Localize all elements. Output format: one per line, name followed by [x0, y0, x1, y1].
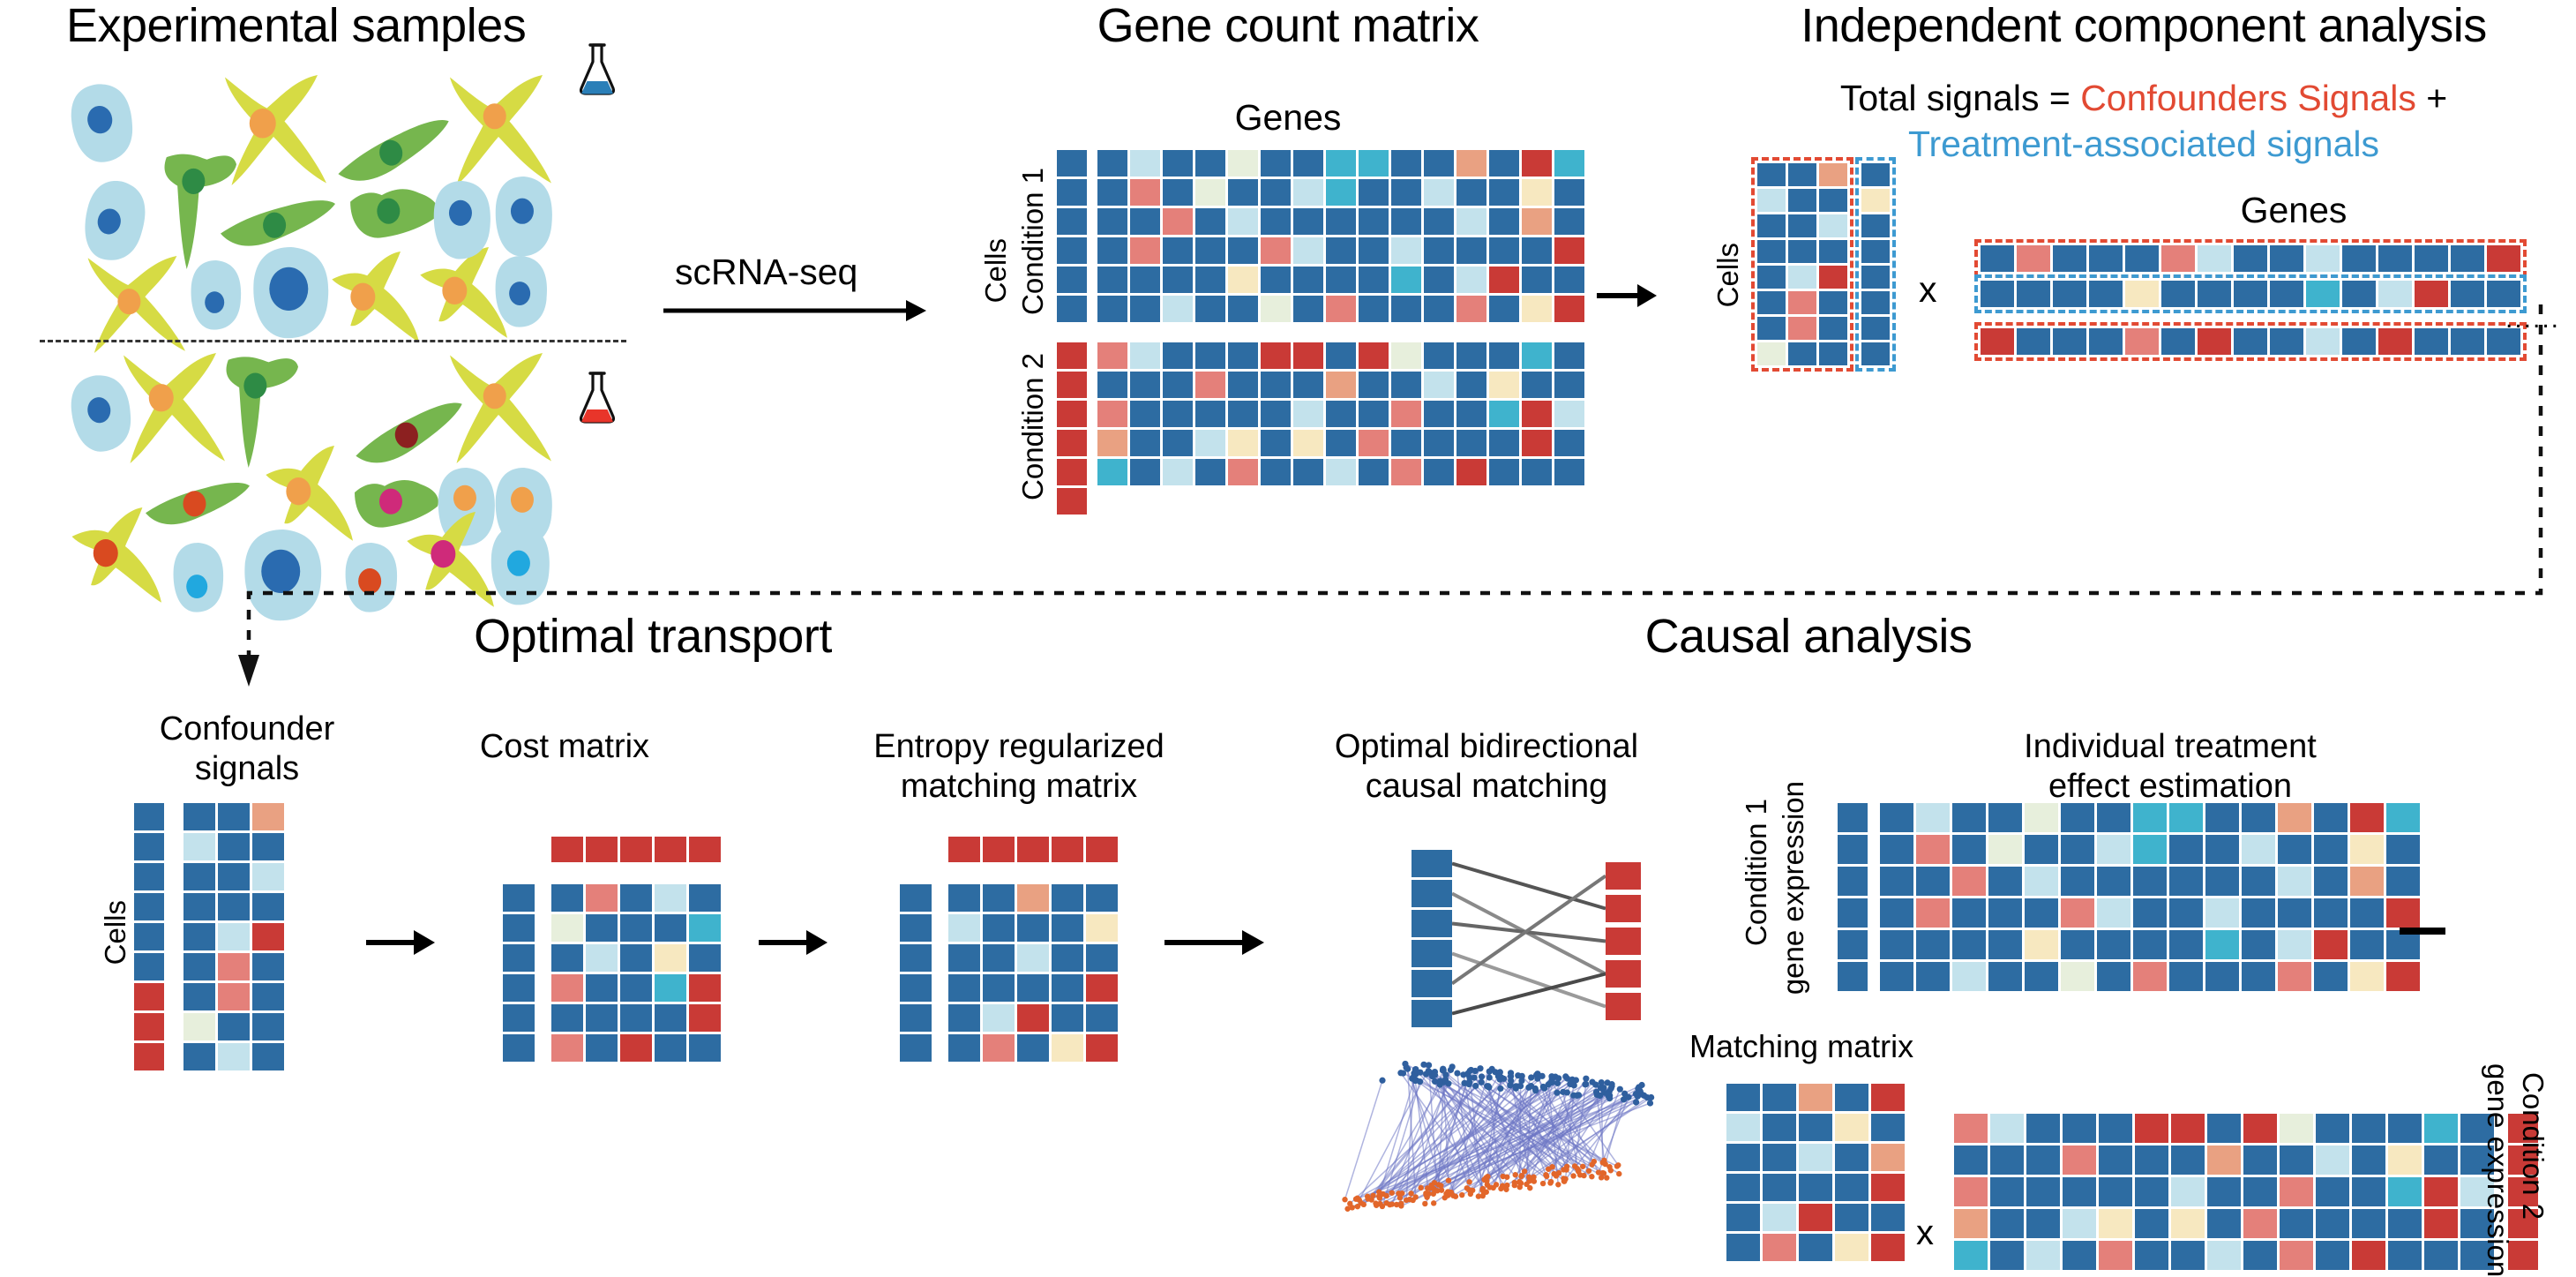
- heatmap-cell: [1293, 267, 1323, 293]
- heatmap-cell: [218, 1043, 250, 1070]
- heatmap-cell: [1293, 342, 1323, 369]
- heatmap-cell: [1293, 150, 1323, 177]
- heatmap-cell: [1097, 150, 1127, 177]
- heatmap-cell: [1554, 179, 1584, 206]
- embedding-point-condition1: [1449, 1063, 1456, 1070]
- heatmap-cell: [2097, 867, 2130, 896]
- heatmap-cell: [2350, 867, 2384, 896]
- heatmap-cell: [2063, 1209, 2096, 1238]
- embedding-scatter-svg: [1332, 1037, 1703, 1244]
- heatmap-cell: [2135, 1241, 2168, 1270]
- ite-multiply-symbol: x: [1916, 1213, 1934, 1253]
- heatmap-cell: [252, 983, 284, 1010]
- heatmap-cell: [1228, 179, 1258, 206]
- cell-body: [225, 75, 326, 185]
- heatmap-cell: [252, 803, 284, 830]
- heatmap-cell: [2097, 962, 2130, 991]
- heatmap-cell: [1017, 974, 1049, 1002]
- heatmap-cell: [2025, 962, 2058, 991]
- matching-right-node: [1606, 928, 1641, 955]
- heatmap-cell: [2234, 328, 2267, 355]
- heatmap-cell: [2487, 281, 2520, 307]
- heatmap-cell: [2099, 1209, 2132, 1238]
- cell-nucleus: [453, 485, 476, 511]
- heatmap-cell: [1228, 401, 1258, 427]
- heatmap-cell: [2089, 245, 2123, 272]
- ica-treatment-block: [1861, 163, 1890, 365]
- heatmap-cell: [2342, 281, 2376, 307]
- embedding-point-condition1: [1555, 1075, 1561, 1081]
- heatmap-cell: [1838, 867, 1868, 896]
- heatmap-cell: [1052, 1004, 1083, 1032]
- heatmap-cell: [2352, 1114, 2385, 1143]
- matching-right-node: [1606, 895, 1641, 922]
- cell-nucleus: [377, 199, 400, 224]
- heatmap-cell: [134, 953, 164, 980]
- heatmap-cell: [1954, 1146, 1988, 1175]
- obcm-label-line2: causal matching: [1284, 768, 1689, 806]
- heatmap-cell: [1130, 208, 1160, 235]
- embedding-point-condition1: [1606, 1095, 1613, 1101]
- cell-glyph: [491, 525, 550, 605]
- heatmap-cell: [183, 953, 215, 980]
- heatmap-cell: [1326, 208, 1356, 235]
- embedding-point-condition2: [1544, 1174, 1549, 1179]
- heatmap-cell: [1757, 266, 1786, 289]
- heatmap-cell: [1988, 835, 2022, 864]
- heatmap-cell: [1819, 291, 1847, 314]
- cell-nucleus: [431, 540, 455, 567]
- cost-matrix-header-row: [551, 837, 721, 862]
- heatmap-cell: [1880, 803, 1913, 832]
- heatmap-cell: [2270, 328, 2303, 355]
- embedding-point-condition2: [1591, 1159, 1597, 1164]
- cost-matrix-label: Cost matrix: [423, 728, 706, 766]
- heatmap-cell: [1130, 342, 1160, 369]
- cell-glyph: [244, 530, 321, 620]
- heatmap-cell: [689, 837, 721, 862]
- heatmap-cell: [2306, 245, 2340, 272]
- heatmap-cell: [1424, 179, 1454, 206]
- heatmap-cell: [2242, 898, 2275, 928]
- heatmap-cell: [1954, 1177, 1988, 1206]
- heatmap-cell: [1880, 962, 1913, 991]
- embedding-point-condition2: [1408, 1191, 1413, 1196]
- cell-nucleus: [286, 477, 311, 505]
- cell-nucleus: [183, 491, 206, 516]
- heatmap-cell: [2171, 1209, 2205, 1238]
- heatmap-cell: [1097, 459, 1127, 485]
- cell-glyph: [350, 189, 438, 237]
- embedding-point-condition1: [1379, 1078, 1385, 1084]
- condition2-row-label: Condition 2: [1016, 353, 1050, 500]
- confounder-signals-heatmap: [183, 803, 284, 1070]
- condition1-row-label: Condition 1: [1016, 168, 1050, 315]
- heatmap-cell: [1799, 1114, 1832, 1141]
- embedding-point-condition2: [1518, 1181, 1524, 1186]
- heatmap-cell: [1228, 430, 1258, 456]
- heatmap-cell: [1456, 296, 1486, 322]
- embedding-point-condition1: [1497, 1069, 1503, 1075]
- heatmap-cell: [1261, 208, 1291, 235]
- heatmap-cell: [2314, 803, 2348, 832]
- heatmap-cell: [1057, 430, 1087, 456]
- embedding-point-condition2: [1589, 1174, 1594, 1179]
- heatmap-cell: [2026, 1241, 2060, 1270]
- heatmap-cell: [1757, 342, 1786, 365]
- heatmap-cell: [1763, 1174, 1796, 1201]
- heatmap-cell: [1726, 1204, 1760, 1231]
- heatmap-cell: [1554, 401, 1584, 427]
- heatmap-cell: [134, 1043, 164, 1070]
- heatmap-cell: [1981, 245, 2014, 272]
- heatmap-cell: [252, 1043, 284, 1070]
- heatmap-cell: [1819, 214, 1847, 237]
- equation-total-label: Total signals =: [1840, 78, 2080, 118]
- heatmap-cell: [1489, 267, 1519, 293]
- matching-matrix-heatmap: [1726, 1084, 1905, 1261]
- heatmap-cell: [2025, 803, 2058, 832]
- heatmap-cell: [2198, 328, 2231, 355]
- cell-nucleus: [350, 283, 375, 311]
- matching-edge: [1452, 924, 1606, 942]
- heatmap-cell: [1359, 459, 1389, 485]
- embedding-point-condition2: [1483, 1175, 1488, 1180]
- embedding-point-condition1: [1517, 1083, 1524, 1089]
- heatmap-cell: [1880, 867, 1913, 896]
- heatmap-cell: [1163, 296, 1193, 322]
- cell-body: [124, 353, 225, 463]
- cell-nucleus: [509, 282, 530, 305]
- heatmap-cell: [1097, 342, 1127, 369]
- embedding-point-condition2: [1601, 1158, 1606, 1163]
- heatmap-cell: [1163, 372, 1193, 398]
- heatmap-cell: [2061, 898, 2094, 928]
- heatmap-cell: [1057, 372, 1087, 398]
- heatmap-cell: [1130, 459, 1160, 485]
- heatmap-cell: [2133, 835, 2167, 864]
- heatmap-cell: [1763, 1234, 1796, 1261]
- cell-glyph: [496, 177, 552, 256]
- heatmap-cell: [1424, 296, 1454, 322]
- heatmap-cell: [1097, 237, 1127, 264]
- heatmap-cell: [655, 1034, 686, 1062]
- heatmap-cell: [1163, 459, 1193, 485]
- heatmap-cell: [1489, 208, 1519, 235]
- heatmap-cell: [1799, 1084, 1832, 1111]
- heatmap-cell: [1163, 430, 1193, 456]
- matching-left-node: [1412, 880, 1452, 907]
- ica-genes-row-treatment: [1981, 281, 2520, 307]
- heatmap-cell: [1489, 459, 1519, 485]
- heatmap-cell: [183, 923, 215, 950]
- heatmap-cell: [1489, 150, 1519, 177]
- cell-nucleus: [186, 575, 207, 598]
- heatmap-cell: [2352, 1146, 2385, 1175]
- heatmap-cell: [655, 1004, 686, 1032]
- heatmap-cell: [1819, 163, 1847, 186]
- heatmap-cell: [1359, 401, 1389, 427]
- cell-nucleus: [182, 169, 205, 194]
- heatmap-cell: [2053, 245, 2086, 272]
- heatmap-cell: [2198, 245, 2231, 272]
- heatmap-cell: [1763, 1204, 1796, 1231]
- cond2-gene-expr-label-line2: gene expression: [2481, 1063, 2514, 1277]
- heatmap-cell: [2415, 281, 2448, 307]
- confounder-signals-label-line1: Confounder: [115, 710, 379, 748]
- heatmap-cell: [2316, 1114, 2349, 1143]
- heatmap-cell: [1391, 237, 1421, 264]
- heatmap-cell: [2352, 1241, 2385, 1270]
- cell-nucleus: [94, 539, 118, 567]
- ica-confounder-heatmap: [1757, 163, 1847, 365]
- embedding-point-condition1: [1508, 1073, 1514, 1079]
- heatmap-cell: [218, 893, 250, 920]
- embedding-point-condition2: [1380, 1191, 1385, 1197]
- embedding-point-condition2: [1453, 1194, 1458, 1199]
- embedding-point-condition2: [1431, 1200, 1436, 1206]
- heatmap-cell: [1871, 1204, 1905, 1231]
- heatmap-cell: [1489, 342, 1519, 369]
- embedding-point-condition1: [1471, 1075, 1478, 1081]
- cell-nucleus: [250, 109, 276, 139]
- heatmap-cell: [1522, 150, 1552, 177]
- cell-nucleus: [269, 267, 308, 311]
- heatmap-cell: [2242, 803, 2275, 832]
- heatmap-cell: [1916, 835, 1950, 864]
- heatmap-cell: [2316, 1146, 2349, 1175]
- heatmap-cell: [2053, 281, 2086, 307]
- heatmap-cell: [1799, 1204, 1832, 1231]
- embedding-point-condition2: [1449, 1190, 1454, 1195]
- heatmap-cell: [1097, 296, 1127, 322]
- heatmap-cell: [1163, 401, 1193, 427]
- embedding-point-condition2: [1524, 1182, 1529, 1187]
- cell-glyph: [346, 543, 398, 612]
- heatmap-cell: [1261, 267, 1291, 293]
- heatmap-cell: [1097, 267, 1127, 293]
- heatmap-cell: [134, 863, 164, 890]
- heatmap-cell: [1554, 372, 1584, 398]
- heatmap-cell: [2243, 1114, 2277, 1143]
- heatmap-cell: [900, 944, 932, 972]
- cell-nucleus: [483, 103, 506, 129]
- heatmap-cell: [183, 803, 215, 830]
- heatmap-cell: [1052, 974, 1083, 1002]
- heatmap-cell: [1871, 1114, 1905, 1141]
- heatmap-cell: [1880, 835, 1913, 864]
- heatmap-cell: [2424, 1114, 2458, 1143]
- heatmap-cell: [2125, 245, 2159, 272]
- heatmap-cell: [1522, 237, 1552, 264]
- embedding-point-condition1: [1497, 1085, 1503, 1092]
- heatmap-cell: [1788, 214, 1816, 237]
- heatmap-cell: [1261, 459, 1291, 485]
- embedding-point-condition2: [1586, 1168, 1591, 1174]
- heatmap-cell: [1554, 430, 1584, 456]
- heatmap-cell: [2278, 835, 2311, 864]
- heatmap-cell: [620, 914, 652, 942]
- heatmap-cell: [1788, 317, 1816, 340]
- cell-glyph: [225, 75, 326, 185]
- heatmap-cell: [1097, 430, 1127, 456]
- heatmap-cell: [586, 1034, 618, 1062]
- gene-count-matrix-group2: [1057, 342, 1584, 515]
- heatmap-cell: [1130, 401, 1160, 427]
- heatmap-cell: [2278, 930, 2311, 959]
- heatmap-cell: [1871, 1234, 1905, 1261]
- heatmap-cell: [1261, 372, 1291, 398]
- heatmap-cell: [1757, 163, 1786, 186]
- cell-glyph: [434, 181, 490, 259]
- heatmap-cell: [1293, 208, 1323, 235]
- heatmap-cell: [1424, 459, 1454, 485]
- heatmap-cell: [1052, 914, 1083, 942]
- bipartite-matching-diagram: [1403, 843, 1659, 1037]
- gene-count-matrix-group1: [1057, 150, 1584, 322]
- heatmap-cell: [2243, 1146, 2277, 1175]
- heatmap-cell: [134, 1013, 164, 1040]
- heatmap-cell: [1017, 884, 1049, 912]
- heatmap-cell: [1359, 372, 1389, 398]
- ite-minus-symbol: [2400, 925, 2445, 937]
- heatmap-cell: [655, 944, 686, 972]
- heatmap-cell: [503, 1034, 535, 1062]
- flask-condition1-icon: [578, 42, 617, 97]
- heatmap-cell: [2207, 1241, 2241, 1270]
- ite-cond1-matrix: [1838, 803, 2420, 991]
- heatmap-cell: [2386, 867, 2420, 896]
- heatmap-cell: [2342, 245, 2376, 272]
- heatmap-cell: [2242, 962, 2275, 991]
- embedding-point-condition2: [1389, 1201, 1395, 1206]
- heatmap-cell: [2280, 1241, 2313, 1270]
- heatmap-cell: [2061, 867, 2094, 896]
- cell-glyph: [226, 357, 298, 468]
- heatmap-cell: [2350, 835, 2384, 864]
- heatmap-cell: [1057, 488, 1087, 515]
- heatmap-cell: [218, 863, 250, 890]
- cell-nucleus: [449, 200, 472, 226]
- cell-glyph: [253, 247, 328, 338]
- cell-glyph: [332, 118, 457, 186]
- embedding-point-condition1: [1479, 1073, 1485, 1079]
- embedding-point-condition1: [1532, 1087, 1539, 1093]
- heatmap-cell: [586, 884, 618, 912]
- embedding-point-condition2: [1412, 1194, 1418, 1199]
- heatmap-cell: [1799, 1144, 1832, 1171]
- heatmap-cell: [1916, 803, 1950, 832]
- heatmap-cell: [1293, 372, 1323, 398]
- heatmap-cell: [620, 944, 652, 972]
- heatmap-cell: [586, 974, 618, 1002]
- heatmap-cell: [2314, 930, 2348, 959]
- embedding-point-condition2: [1397, 1195, 1403, 1200]
- heatmap-cell: [1195, 179, 1225, 206]
- matching-left-node: [1412, 940, 1452, 967]
- entropy-matrix-side-column: [900, 884, 932, 1062]
- heatmap-cell: [503, 1004, 535, 1032]
- embedding-point-condition2: [1513, 1172, 1518, 1177]
- heatmap-cell: [1228, 237, 1258, 264]
- heatmap-cell: [183, 1013, 215, 1040]
- heatmap-cell: [2270, 245, 2303, 272]
- heatmap-cell: [1163, 267, 1193, 293]
- heatmap-cell: [2314, 835, 2348, 864]
- heatmap-cell: [1391, 296, 1421, 322]
- heatmap-cell: [183, 983, 215, 1010]
- heatmap-cell: [620, 974, 652, 1002]
- heatmap-cell: [1489, 430, 1519, 456]
- matching-matrix-label: Matching matrix: [1689, 1028, 1913, 1065]
- heatmap-cell: [1195, 430, 1225, 456]
- embedding-point-condition2: [1547, 1180, 1553, 1185]
- ica-ellipsis: ......: [2505, 304, 2560, 334]
- heatmap-cell: [1195, 267, 1225, 293]
- heatmap-cell: [2234, 281, 2267, 307]
- heatmap-cell: [1057, 179, 1087, 206]
- heatmap-cell: [1261, 237, 1291, 264]
- heatmap-cell: [1261, 430, 1291, 456]
- matching-right-node: [1606, 993, 1641, 1020]
- cell-glyph: [332, 252, 419, 342]
- heatmap-cell: [586, 944, 618, 972]
- cell-body: [226, 357, 298, 468]
- heatmap-cell: [1799, 1174, 1832, 1201]
- heatmap-cell: [551, 884, 583, 912]
- heatmap-cell: [2207, 1209, 2241, 1238]
- heatmap-cell: [2207, 1177, 2241, 1206]
- heatmap-cell: [1456, 237, 1486, 264]
- ica-genes-row-confounder: [1981, 245, 2520, 272]
- heatmap-cell: [1086, 884, 1118, 912]
- cell-nucleus: [243, 373, 266, 399]
- heatmap-cell: [1835, 1114, 1868, 1141]
- heatmap-cell: [2205, 867, 2239, 896]
- embedding-point-condition2: [1380, 1204, 1385, 1209]
- heatmap-cell: [983, 1034, 1015, 1062]
- heatmap-cell: [551, 1034, 583, 1062]
- heatmap-cell: [1261, 179, 1291, 206]
- entropy-matrix-label-line1: Entropy regularized: [820, 728, 1217, 766]
- heatmap-cell: [1522, 401, 1552, 427]
- gene-count-side-column-c1: [1057, 150, 1087, 322]
- heatmap-cell: [1954, 1114, 1988, 1143]
- entropy-matrix-heatmap: [948, 884, 1118, 1062]
- heatmap-cell: [134, 893, 164, 920]
- heatmap-cell: [1163, 150, 1193, 177]
- embedding-point-condition1: [1454, 1070, 1460, 1076]
- heatmap-cell: [1489, 372, 1519, 398]
- heatmap-cell: [1359, 150, 1389, 177]
- embedding-point-condition2: [1555, 1182, 1561, 1187]
- heatmap-cell: [1838, 962, 1868, 991]
- embedding-point-condition1: [1583, 1076, 1589, 1082]
- embedding-point-condition2: [1418, 1185, 1423, 1191]
- heatmap-cell: [1359, 237, 1389, 264]
- heatmap-cell: [1195, 459, 1225, 485]
- heatmap-cell: [1456, 342, 1486, 369]
- scrna-seq-arrow-icon: [663, 296, 928, 326]
- page-title-ica: Independent component analysis: [1747, 0, 2541, 53]
- cell-body: [450, 353, 551, 463]
- heatmap-cell: [689, 884, 721, 912]
- heatmap-cell: [2169, 803, 2203, 832]
- heatmap-cell: [551, 837, 583, 862]
- cell-glyph: [496, 256, 548, 327]
- entropy-to-matching-arrow-icon: [1164, 927, 1266, 958]
- equation-confounders-label: Confounders Signals: [2080, 78, 2416, 118]
